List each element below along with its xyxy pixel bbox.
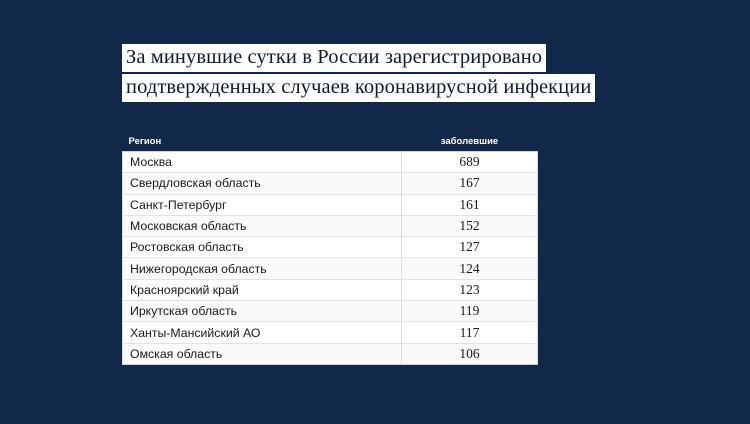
cell-region: Санкт-Петербург: [123, 194, 402, 215]
page-title-line-2-text: подтвержденных случаев коронавирусной ин…: [122, 74, 595, 102]
cell-region: Свердловская область: [123, 173, 402, 194]
page-title-line-2: подтвержденных случаев коронавирусной ин…: [122, 74, 682, 102]
cell-cases: 161: [402, 194, 538, 215]
cell-region: Красноярский край: [123, 279, 402, 300]
cell-cases: 117: [402, 322, 538, 343]
stats-table-header: Регион заболевшие: [123, 133, 538, 152]
cell-cases: 689: [402, 152, 538, 173]
cell-cases: 106: [402, 343, 538, 364]
stats-table: Регион заболевшие Москва689Свердловская …: [122, 133, 538, 365]
table-row: Санкт-Петербург161: [123, 194, 538, 215]
cell-region: Омская область: [123, 343, 402, 364]
cell-cases: 152: [402, 215, 538, 236]
cell-region: Ростовская область: [123, 237, 402, 258]
column-header-region: Регион: [123, 133, 402, 152]
page-title-line-1: За минувшие сутки в России зарегистриров…: [122, 44, 682, 72]
cell-region: Нижегородская область: [123, 258, 402, 279]
table-row: Нижегородская область124: [123, 258, 538, 279]
stats-table-body: Москва689Свердловская область167Санкт-Пе…: [123, 152, 538, 365]
stats-table-container: Регион заболевшие Москва689Свердловская …: [122, 133, 537, 365]
table-header-row: Регион заболевшие: [123, 133, 538, 152]
cell-cases: 127: [402, 237, 538, 258]
cell-cases: 124: [402, 258, 538, 279]
table-row: Москва689: [123, 152, 538, 173]
page-title-line-1-text: За минувшие сутки в России зарегистриров…: [122, 44, 546, 72]
cell-cases: 167: [402, 173, 538, 194]
table-row: Омская область106: [123, 343, 538, 364]
table-row: Московская область152: [123, 215, 538, 236]
table-row: Ханты-Мансийский АО117: [123, 322, 538, 343]
table-row: Ростовская область127: [123, 237, 538, 258]
column-header-cases: заболевшие: [402, 133, 538, 152]
cell-cases: 123: [402, 279, 538, 300]
slide-canvas: За минувшие сутки в России зарегистриров…: [0, 0, 750, 424]
table-row: Красноярский край123: [123, 279, 538, 300]
table-row: Иркутская область119: [123, 301, 538, 322]
cell-region: Московская область: [123, 215, 402, 236]
cell-region: Иркутская область: [123, 301, 402, 322]
page-title: За минувшие сутки в России зарегистриров…: [122, 44, 682, 102]
cell-cases: 119: [402, 301, 538, 322]
cell-region: Ханты-Мансийский АО: [123, 322, 402, 343]
table-row: Свердловская область167: [123, 173, 538, 194]
cell-region: Москва: [123, 152, 402, 173]
